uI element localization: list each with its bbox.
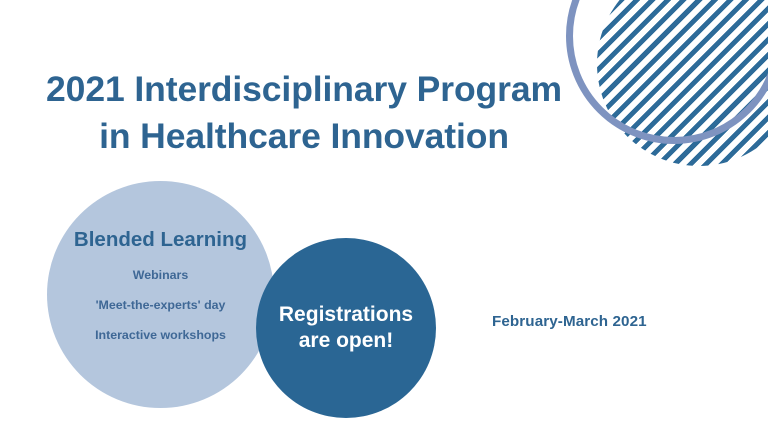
registrations-open-badge: Registrations are open! [256,238,436,418]
list-item: Webinars [133,269,189,282]
registrations-line-2: are open! [299,328,394,354]
list-item: 'Meet-the-experts' day [96,299,226,312]
slide-canvas: 2021 Interdisciplinary Program in Health… [0,0,768,432]
list-item: Interactive workshops [95,329,226,342]
blended-learning-list: Webinars 'Meet-the-experts' day Interact… [95,269,226,342]
striped-circle-decoration [597,0,768,166]
blended-learning-circle: Blended Learning Webinars 'Meet-the-expe… [47,181,274,408]
registrations-line-1: Registrations [279,302,413,328]
blended-learning-heading: Blended Learning [74,229,247,252]
page-title-line-1: 2021 Interdisciplinary Program [0,66,608,113]
page-title-line-2: in Healthcare Innovation [0,113,608,160]
page-title: 2021 Interdisciplinary Program in Health… [0,66,608,160]
event-date: February-March 2021 [492,313,647,330]
